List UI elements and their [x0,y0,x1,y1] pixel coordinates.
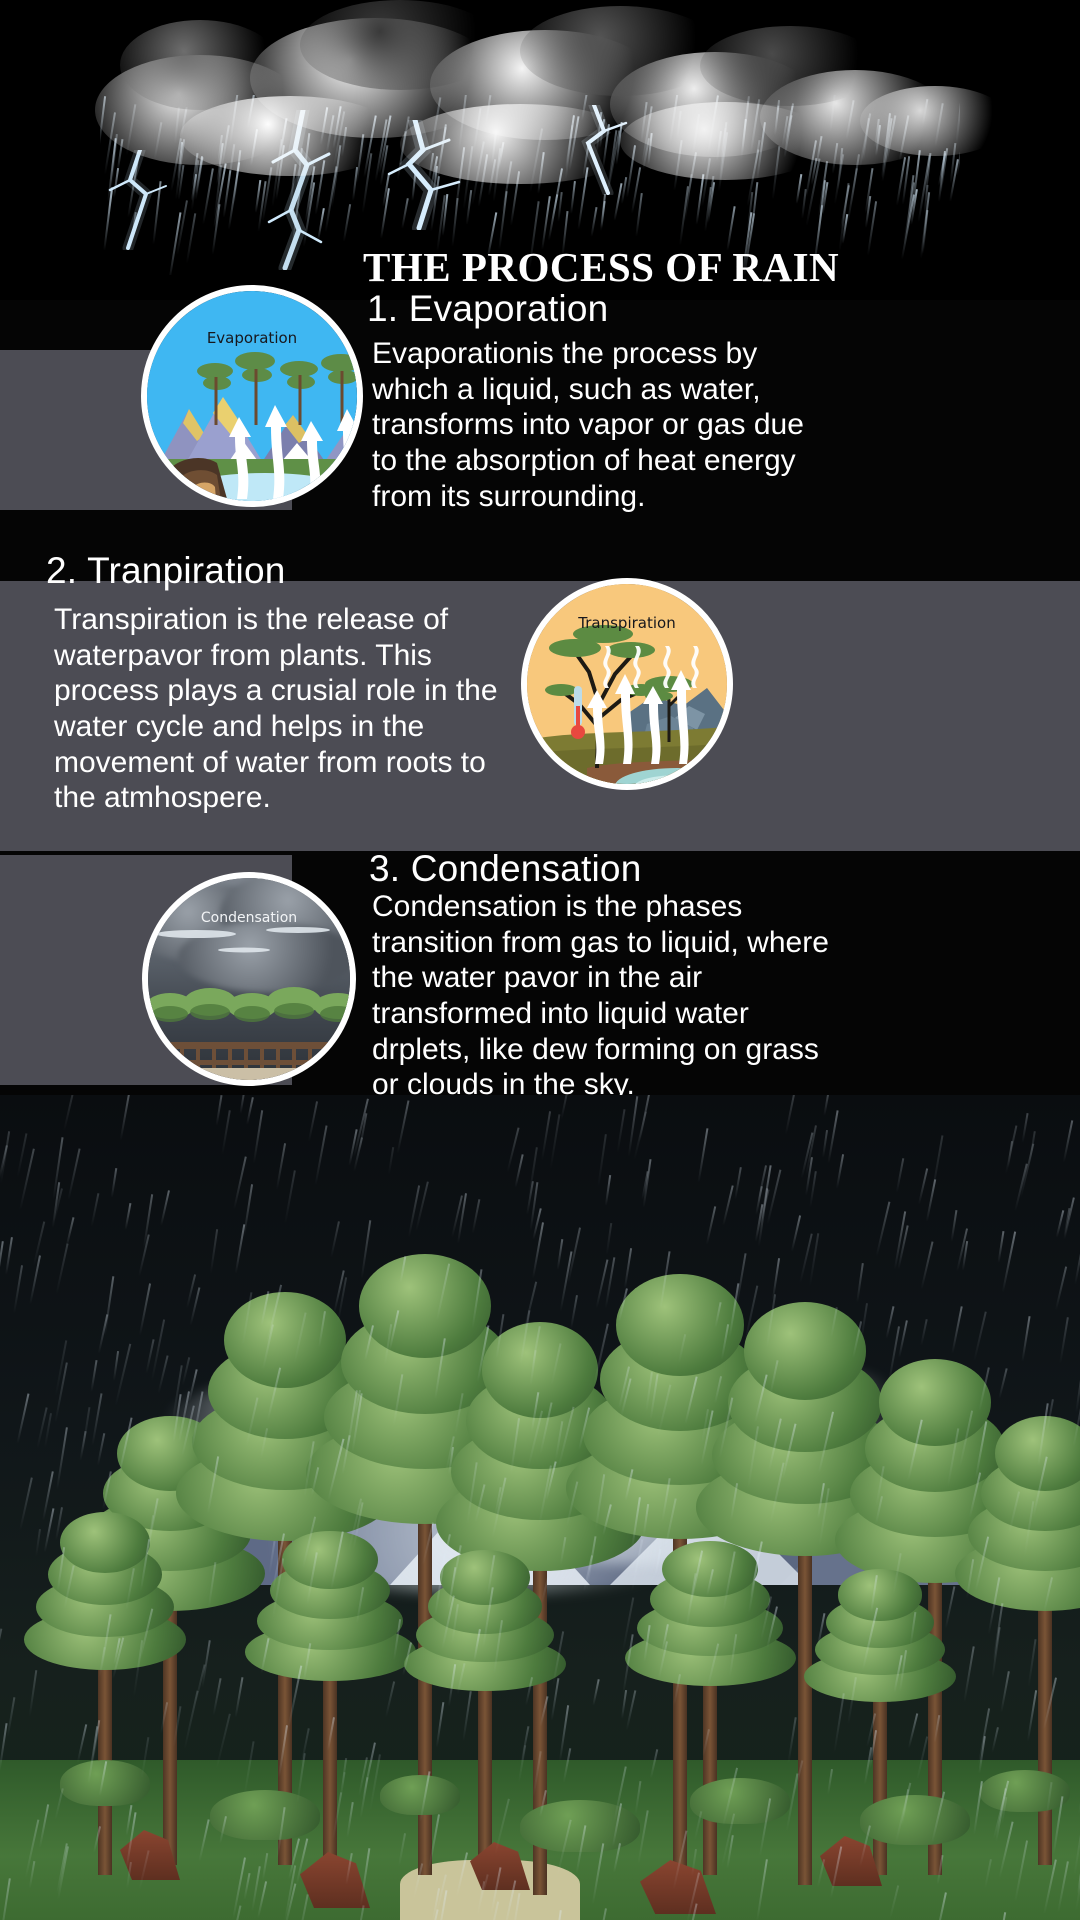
rain-streak [659,1251,670,1309]
rain-streak [56,1428,68,1490]
rain-streak [930,1135,943,1197]
rain-streak [186,213,197,264]
rain-streak [91,1393,102,1445]
rain-streak [288,1666,303,1728]
rain-streak [436,1702,445,1748]
rain-streak [242,1292,253,1346]
poster-canvas: THE PROCESS OF RAIN Evaporation [0,0,1080,1920]
rain-streak [975,1421,988,1479]
rain-streak [769,1361,778,1395]
rain-streak [97,1433,106,1466]
rain-streak [639,1095,652,1141]
rain-streak [907,1420,923,1481]
rain-streak [361,1220,372,1278]
rain-streak [862,1607,878,1670]
rain-streak [744,1286,759,1345]
rain-streak [398,1833,406,1867]
rain-streak [510,1418,520,1474]
rain-streak [413,1863,423,1898]
rain-streak [346,1802,354,1838]
rain-streak [68,1149,81,1201]
rain-streak [578,1407,590,1451]
rain-streak [908,1713,918,1748]
rain-streak [1000,1671,1010,1713]
rain-streak [0,1723,7,1771]
rain-streak [435,1338,447,1399]
rain-streak [1014,1840,1028,1903]
rain-streak [90,1360,97,1392]
cloud-puff [180,96,400,176]
evaporation-caption: Evaporation [147,329,357,347]
rain-streak [605,1175,611,1206]
rain-streak [388,1147,394,1175]
rain-streak [722,1768,738,1827]
rain-streak [827,1110,838,1164]
rain-streak [44,1508,55,1553]
rain-streak [822,1130,828,1158]
rain-streak [308,1101,318,1141]
rain-streak [355,1587,363,1624]
rain-streak [816,1613,825,1648]
rain-streak [0,1878,10,1920]
rain-streak [876,1201,891,1256]
rain-streak [755,1375,768,1423]
rain-streak [496,1314,505,1358]
rain-streak [81,1407,90,1452]
rain-streak [935,1892,947,1920]
rain-streak [934,1715,941,1743]
rain-streak [57,1547,65,1590]
rain-streak [830,1847,842,1899]
cloud-puff [120,20,280,110]
rain-streak [297,1894,308,1920]
rain-streak [397,1100,410,1154]
rain-streak [452,1545,462,1584]
rain-streak [266,1368,280,1421]
rain-streak [673,1674,681,1706]
rain-streak [419,1771,430,1821]
rain-streak [921,1319,928,1345]
rain-streak [662,1478,671,1522]
rain-streak [472,1199,481,1234]
transpiration-illustration: Transpiration [521,578,733,790]
rain-streak [244,1742,255,1797]
rain-streak [678,1335,686,1365]
rain-streak [984,1859,992,1888]
condensation-heading: 3. Condensation [369,848,641,890]
rain-streak [428,1814,440,1870]
rain-streak [532,1751,541,1797]
rain-streak [293,1312,306,1364]
rain-streak [620,1690,626,1719]
rain-streak [475,1485,486,1523]
rain-streak [148,1499,159,1548]
rain-streak [215,1095,222,1126]
rain-streak [221,1110,231,1155]
rain-streak [393,1374,404,1426]
rain-streak [1008,1492,1020,1535]
rain-streak [0,1242,3,1294]
rain-streak [540,1696,549,1726]
rain-streak [847,1678,857,1726]
rain-streak [257,1881,267,1919]
rain-streak [830,1307,838,1338]
rain-streak [1021,1113,1028,1143]
rain-streak [239,1095,246,1114]
rain-streak [602,1504,612,1535]
vapor-arrows [225,403,363,503]
rain-streak [931,1792,945,1844]
rain-streak [494,1799,510,1856]
rain-streak [219,1816,227,1844]
rain-streak [479,1874,488,1904]
rain-streak [556,1239,563,1270]
rain-streak [1057,1861,1069,1913]
rain-streak [160,1702,168,1734]
rain-streak [625,1690,636,1730]
evaporation-body: Evaporationis the process by which a liq… [372,336,832,514]
rain-streak [918,1168,928,1205]
rain-streak [788,1717,797,1764]
rain-streak [268,1541,275,1574]
rain-streak [623,1249,631,1289]
rain-streak [482,1587,494,1647]
rain-streak [473,1629,481,1662]
rain-streak [782,1424,797,1480]
rain-streak [792,1761,803,1798]
rain-streak [759,1799,771,1857]
rain-streak [894,1782,911,1843]
rain-streak [1043,1678,1057,1730]
rain-streak [921,1241,934,1289]
rain-streak [563,1748,571,1782]
rain-streak [973,1781,983,1835]
rain-streak [198,1819,209,1862]
rain-streak [90,1193,99,1227]
rain-streak [456,1852,468,1896]
rain-streak [303,1643,312,1682]
rain-streak [634,1781,641,1814]
rain-streak [57,1843,69,1894]
rain-streak [207,1562,216,1609]
rain-streak [606,1223,613,1255]
rain-streak [966,1560,974,1600]
rain-streak [991,1727,999,1753]
rain-streak [1059,1318,1069,1365]
rain-streak [560,1537,567,1565]
rain-streak [714,1376,722,1404]
rain-streak [276,1807,285,1858]
rain-streak [613,1843,621,1873]
rain-streak [54,1788,64,1820]
cloud-puff [620,102,830,180]
rain-streak [693,1812,702,1842]
rain-streak [595,1909,607,1920]
rain-streak [318,1311,326,1348]
rain-streak [507,1127,520,1172]
forest-rain-scene [0,1095,1080,1920]
rain-streak [1055,1267,1067,1311]
rain-streak [999,1821,1014,1878]
rain-streak [5,1237,13,1275]
rain-streak [631,1497,641,1548]
rain-streak [422,1522,434,1565]
rain-streak [0,1131,10,1184]
rain-streak [791,1215,801,1251]
rain-streak [207,1456,219,1514]
rain-streak [585,1537,596,1591]
rain-streak [706,1569,714,1596]
rain-streak [314,1125,327,1185]
rain-streak [637,1810,648,1865]
rain-streak [1043,1577,1053,1613]
rain-streak [1027,1640,1036,1689]
rain-streak [697,1128,708,1182]
rain-streak [622,1597,635,1653]
rain-streak [785,1095,797,1135]
rain-streak [538,1465,552,1526]
rain-streak [541,1111,551,1161]
transpiration-heading: 2. Tranpiration [46,550,286,592]
rain-streak [233,1156,247,1209]
rain-streak [947,1429,960,1489]
rain-streak [975,1536,989,1590]
rain-streak [559,1252,572,1312]
rain-streak [63,1095,77,1131]
rain-streak [747,1426,759,1489]
rain-streak [856,1264,864,1304]
rain-streak [748,1552,760,1613]
rain-streak [552,1910,562,1920]
rain-streak [19,1478,33,1531]
rain-streak [6,1697,15,1738]
rain-streak [735,1167,743,1200]
rain-streak [593,1323,609,1385]
rain-streak [590,207,597,237]
rain-streak [311,1467,319,1496]
rain-streak [770,1462,785,1524]
rain-streak [472,1269,483,1328]
rain-streak [643,1504,649,1535]
rain-streak [253,1110,263,1164]
rain-streak [801,189,807,219]
rain-streak [182,1357,190,1385]
rain-streak [353,1099,369,1157]
rain-streak [896,1158,905,1193]
rain-streak [56,1243,69,1294]
cloud-puff [300,0,500,90]
transpiration-body: Transpiration is the release of waterpav… [54,602,524,816]
rain-streak [462,1691,472,1741]
rain-streak [613,1766,627,1822]
rain-streak [993,1603,1004,1661]
rain-streak [38,1804,48,1848]
rain-streak [261,1638,270,1673]
rain-streak [99,1761,107,1796]
rain-streak [364,1325,374,1360]
rain-overlay [0,1095,1080,1920]
rain-streak [262,1853,268,1881]
rain-streak [332,1792,342,1841]
rain-streak [576,1825,587,1873]
condensation-illustration: Condensation [142,872,356,1086]
rain-streak [593,1679,600,1706]
rain-streak [836,1154,844,1189]
rain-streak [17,1134,28,1178]
rain-streak [246,1397,259,1446]
rain-streak [541,196,551,250]
rain-streak [188,1369,197,1402]
rain-streak [998,1369,1007,1400]
rain-streak [63,1565,74,1609]
rain-streak [243,1873,250,1900]
rain-streak [859,1825,871,1866]
rain-streak [215,1713,231,1770]
rain-streak [650,1749,658,1779]
rain-streak [714,1302,721,1328]
rain-streak [29,1670,38,1716]
rain-streak [1004,1126,1017,1176]
rain-streak [125,1568,135,1611]
rain-streak [276,1144,286,1190]
rain-streak [284,1170,296,1224]
rain-streak [951,1306,962,1354]
rain-streak [103,1276,114,1336]
condensation-caption: Condensation [148,910,350,926]
rain-streak [566,1481,579,1527]
rain-streak [402,1642,412,1676]
rain-streak [910,1612,917,1645]
rain-streak [77,1725,87,1764]
rain-streak [400,1256,407,1282]
rain-streak [1063,1120,1074,1162]
rain-streak [684,1377,697,1425]
rain-streak [721,1324,729,1360]
rain-streak [539,1790,547,1817]
rain-streak [816,1859,824,1887]
rain-streak [886,1306,895,1338]
rain-streak [212,1679,221,1717]
rain-streak [139,1284,151,1336]
rain-streak [541,1577,549,1603]
rain-streak [1074,1223,1080,1285]
rain-streak [889,1885,899,1920]
rain-streak [979,1367,991,1412]
rain-streak [1073,1817,1080,1876]
rain-streak [689,1550,703,1608]
rain-streak [0,1628,2,1689]
rain-streak [998,1912,1006,1920]
rain-streak [560,1095,571,1120]
rain-streak [706,1207,716,1246]
rain-streak [202,168,214,225]
condensation-body: Condensation is the phases transition fr… [372,889,842,1103]
rain-streak [644,1625,651,1662]
rain-streak [1027,1690,1037,1741]
rain-streak [306,1552,318,1605]
rain-streak [451,1604,459,1644]
rain-streak [125,1203,132,1230]
rain-streak [434,1554,446,1616]
rain-streak [448,1664,456,1707]
rain-streak [723,1186,734,1226]
rain-streak [657,1385,672,1439]
rain-streak [691,1849,697,1877]
rain-streak [29,1861,36,1889]
rain-streak [702,1729,710,1757]
rain-streak [654,1549,661,1576]
rain-streak [1043,1859,1057,1914]
rain-streak [736,1253,747,1307]
rain-streak [1020,1143,1035,1198]
rain-streak [707,1643,719,1687]
lightning-icon [90,150,180,250]
wispy-clouds [148,922,356,962]
rain-streak [360,1848,371,1907]
rain-streak [916,1736,928,1781]
rain-streak [243,1185,253,1237]
rain-streak [556,1820,571,1877]
transpiration-caption: Transpiration [527,614,727,632]
rain-streak [514,1155,523,1189]
rain-streak [809,1171,817,1208]
rain-streak [997,1231,1004,1263]
rain-streak [393,1619,401,1661]
tree-row [148,986,356,1048]
rain-streak [729,1634,737,1677]
rain-streak [635,193,643,237]
cloud-puff [700,26,880,106]
page-title: THE PROCESS OF RAIN [363,243,839,291]
rain-streak [1046,1782,1053,1818]
rain-streak [330,1222,340,1259]
rain-streak [1033,1456,1048,1517]
rain-streak [100,1614,111,1670]
rain-streak [327,1717,335,1751]
rain-streak [818,1412,834,1473]
rain-streak [1052,1796,1063,1855]
rain-streak [93,1826,101,1853]
rain-streak [55,1507,63,1541]
rain-streak [597,1134,607,1188]
cloud-puff [400,104,640,184]
evaporation-heading: 1. Evaporation [367,288,608,330]
rain-streak [173,1707,182,1749]
rain-streak [512,1893,521,1920]
rain-streak [13,1265,23,1314]
rain-streak [592,1843,605,1904]
rain-streak [730,1483,738,1521]
rock [165,449,235,507]
rain-streak [235,1677,244,1718]
rain-streak [893,1553,902,1595]
rain-streak [964,1646,975,1702]
rain-streak [337,1278,347,1324]
rain-streak [601,201,606,228]
rain-streak [795,174,802,204]
rain-streak [618,1289,628,1322]
fence-posts [148,1042,356,1070]
rain-streak [672,1831,687,1891]
rain-streak [117,1417,132,1477]
rain-streak [494,1620,504,1675]
rain-streak [278,1725,288,1777]
rain-streak [191,1391,204,1451]
cloud-puff [520,6,720,96]
rain-streak [766,1294,776,1348]
rain-streak [973,1311,987,1361]
rain-streak [570,1295,578,1329]
